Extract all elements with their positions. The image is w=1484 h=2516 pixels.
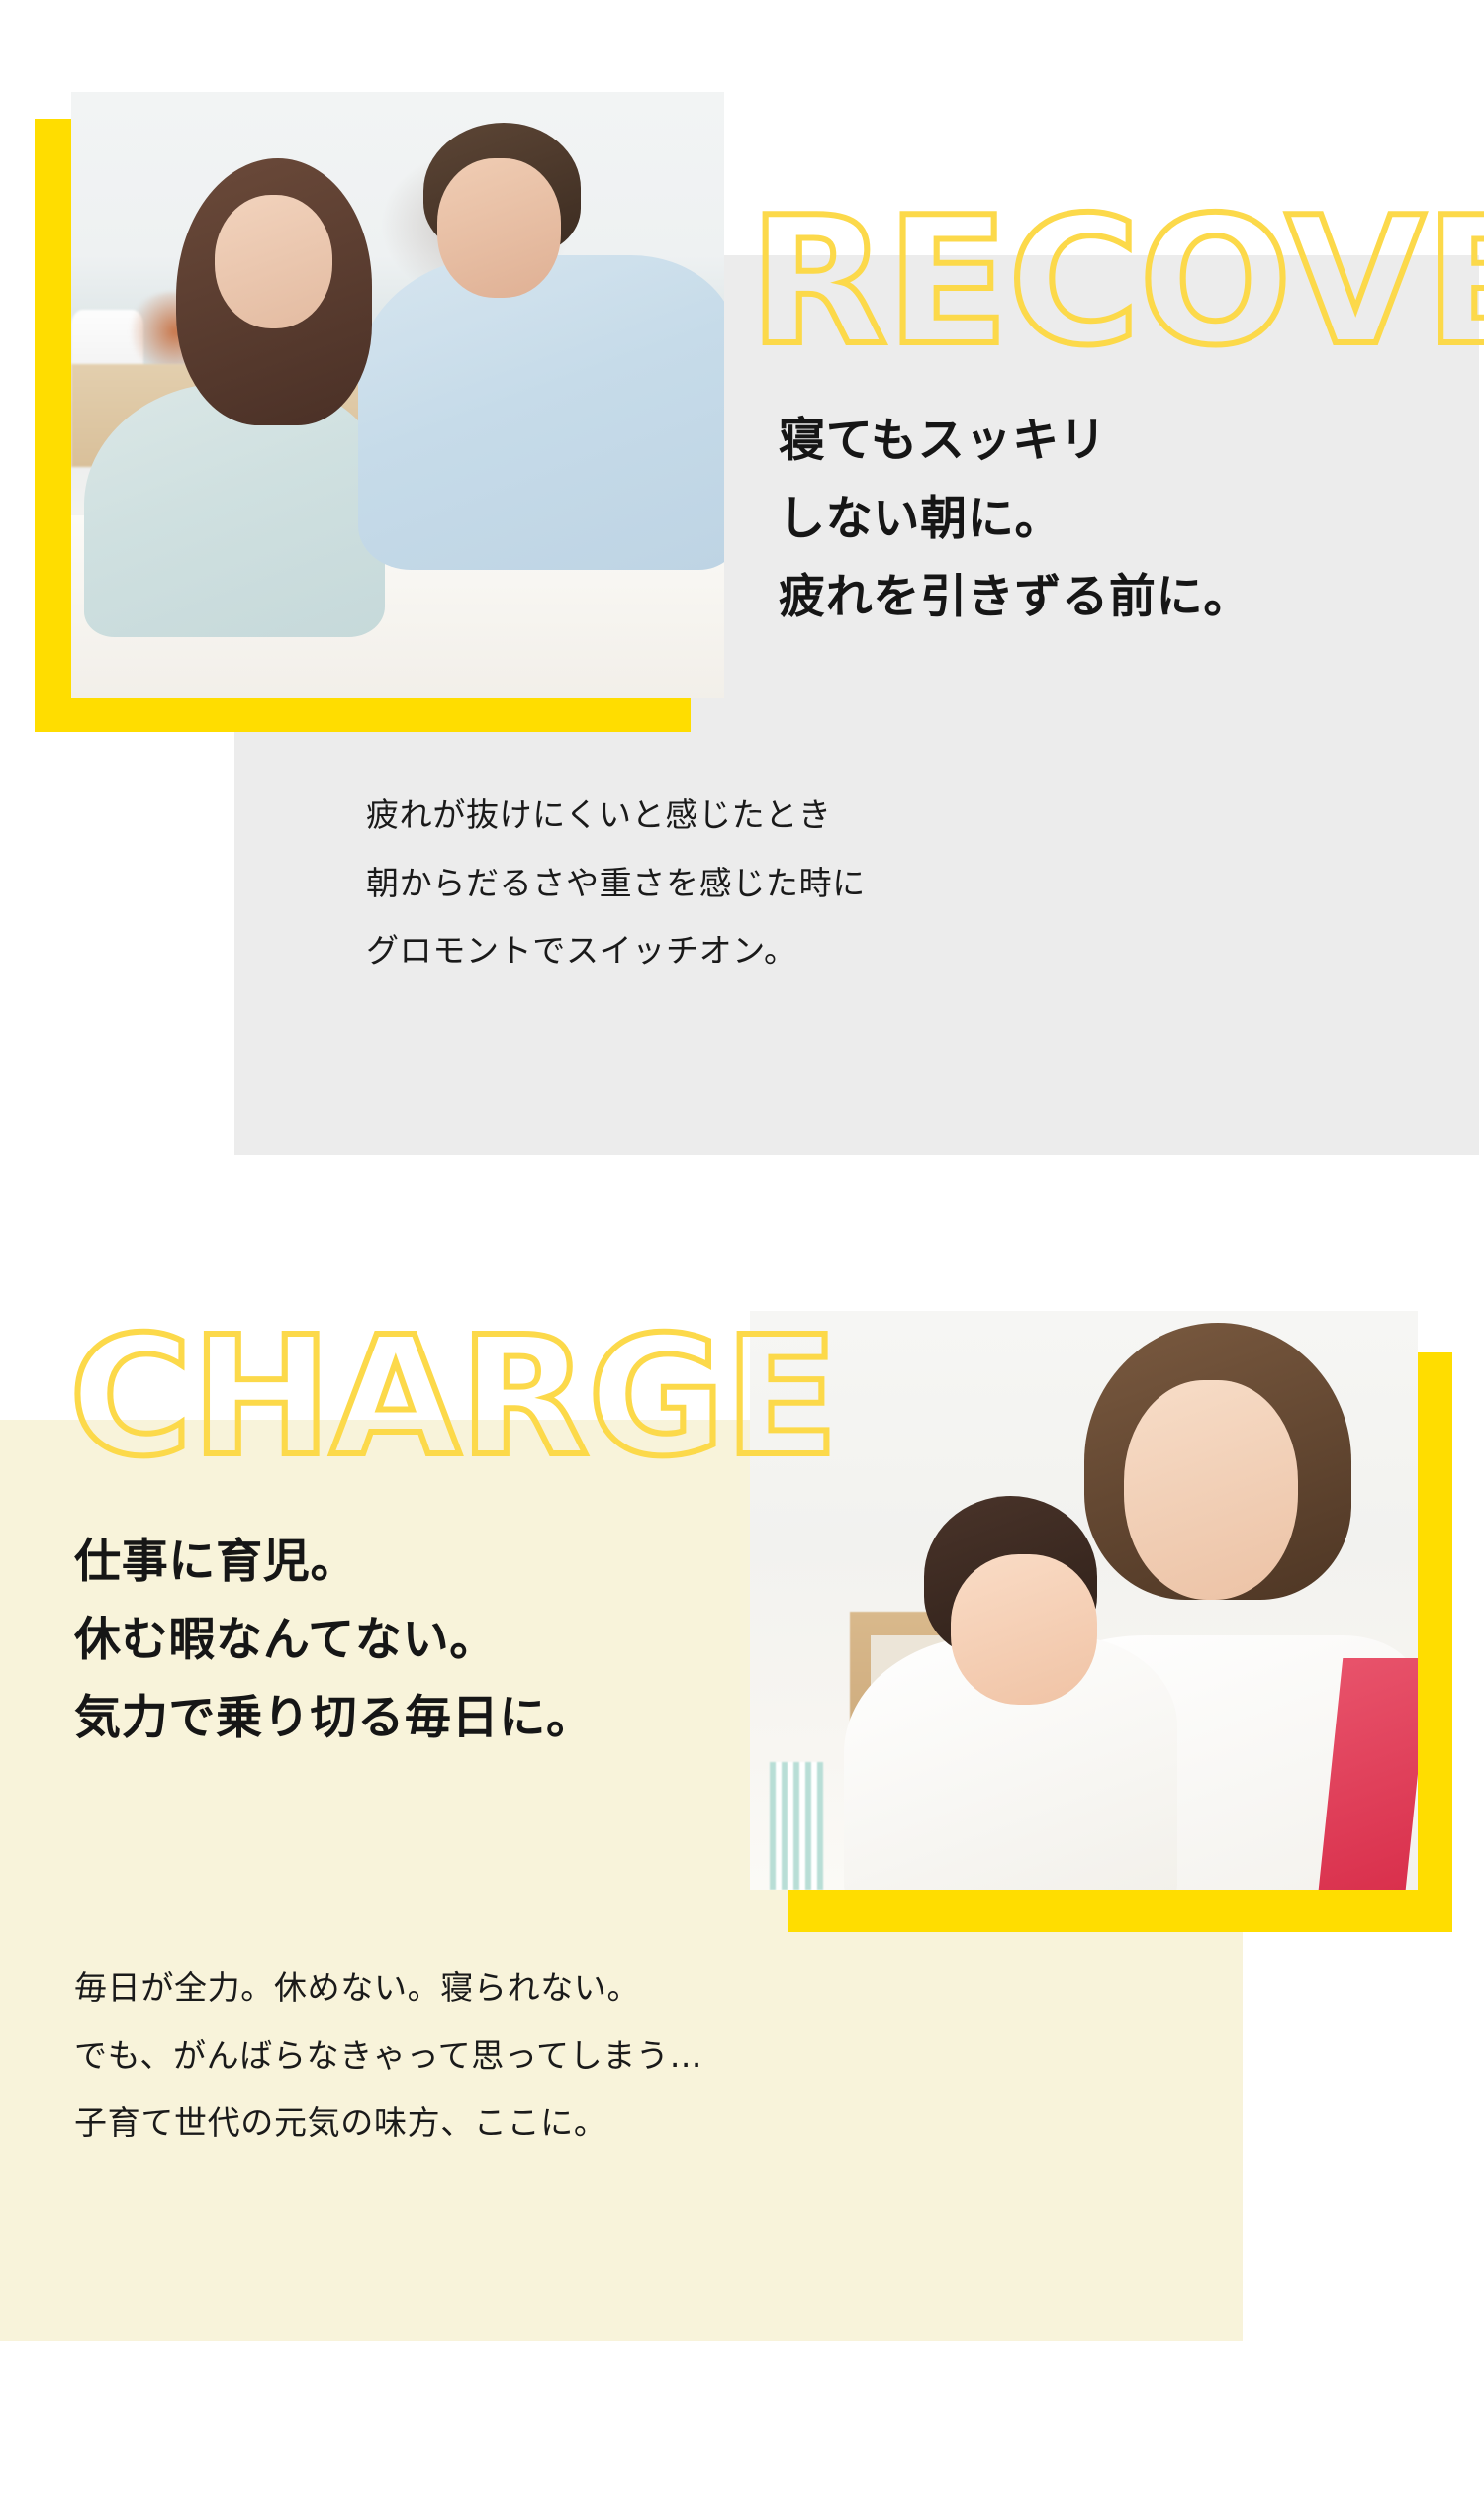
recovery-photo (71, 92, 724, 698)
recovery-body-text: 疲れが抜けにくいと感じたとき 朝からだるさや重さを感じた時に グロモントでスイッ… (366, 782, 866, 985)
charge-body-text: 毎日が全力。休めない。寝られない。 でも、がんばらなきゃって思ってしまう… 子育… (74, 1954, 702, 2158)
charge-heading: 仕事に育児。 休む暇なんてない。 気力で乗り切る毎日に。 (74, 1524, 594, 1758)
recovery-heading: 寝てもスッキリ しない朝に。 疲れを引きずる前に。 (779, 403, 1251, 637)
charge-display-word: CHARGE (69, 1316, 838, 1480)
recovery-display-word: RECOVERY (749, 194, 1484, 370)
charge-photo (750, 1311, 1418, 1890)
